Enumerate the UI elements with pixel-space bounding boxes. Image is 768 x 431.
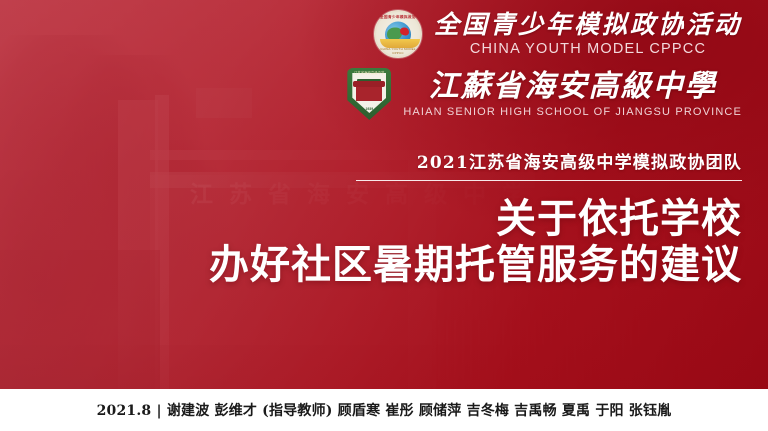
presentation-title-slide: 江苏省海安高级中学 全国青少年模拟政协 CHINA YOUTH MODEL CP… [0, 0, 768, 431]
cppcc-logo: 全国青少年模拟政协 CHINA YOUTH MODEL CPPCC 全国青少年模… [347, 10, 742, 58]
cppcc-emblem-bottom-text: CHINA YOUTH MODEL CPPCC [376, 47, 420, 55]
team-subtitle: 2021江苏省海安高级中学模拟政协团队 [356, 148, 742, 173]
credits-text: 2021.8 | 谢建波 彭维才 (指导教师) 顾盾寒 崔彤 顾储萍 吉冬梅 吉… [97, 400, 672, 420]
school-chinese-title: 江蘇省海安高級中學 [403, 70, 742, 103]
school-logo-text: 江蘇省海安高級中學 HAIAN SENIOR HIGH SCHOOL OF JI… [403, 70, 742, 118]
cppcc-emblem-icon: 全国青少年模拟政协 CHINA YOUTH MODEL CPPCC [374, 10, 422, 58]
credits-bar: 2021.8 | 谢建波 彭维才 (指导教师) 顾盾寒 崔彤 顾储萍 吉冬梅 吉… [0, 389, 768, 431]
title-line-1: 关于依托学校 [209, 196, 742, 242]
title-line-2: 办好社区暑期托管服务的建议 [209, 242, 742, 288]
shield-founding-year: 1939 [347, 107, 391, 111]
shield-top-text: 江苏省海安高级中学 [347, 70, 391, 75]
school-english-title: HAIAN SENIOR HIGH SCHOOL OF JIANGSU PROV… [403, 106, 742, 118]
cppcc-emblem-top-text: 全国青少年模拟政协 [376, 15, 420, 20]
globe-china-highlight [400, 28, 409, 36]
page-title: 关于依托学校 办好社区暑期托管服务的建议 [209, 196, 742, 288]
shield-building-glyph [356, 86, 382, 101]
subtitle-divider [356, 180, 742, 181]
school-shield-icon: 江苏省海安高级中学 1939 [347, 68, 391, 120]
school-logo: 江苏省海安高级中学 1939 江蘇省海安高級中學 HAIAN SENIOR HI… [347, 68, 742, 120]
logo-group: 全国青少年模拟政协 CHINA YOUTH MODEL CPPCC 全国青少年模… [347, 10, 742, 120]
cppcc-english-title: CHINA YOUTH MODEL CPPCC [434, 41, 742, 57]
subtitle-block: 2021江苏省海安高级中学模拟政协团队 [356, 148, 742, 181]
cppcc-chinese-title: 全国青少年模拟政协活动 [434, 11, 742, 39]
cppcc-logo-text: 全国青少年模拟政协活动 CHINA YOUTH MODEL CPPCC [434, 11, 742, 57]
